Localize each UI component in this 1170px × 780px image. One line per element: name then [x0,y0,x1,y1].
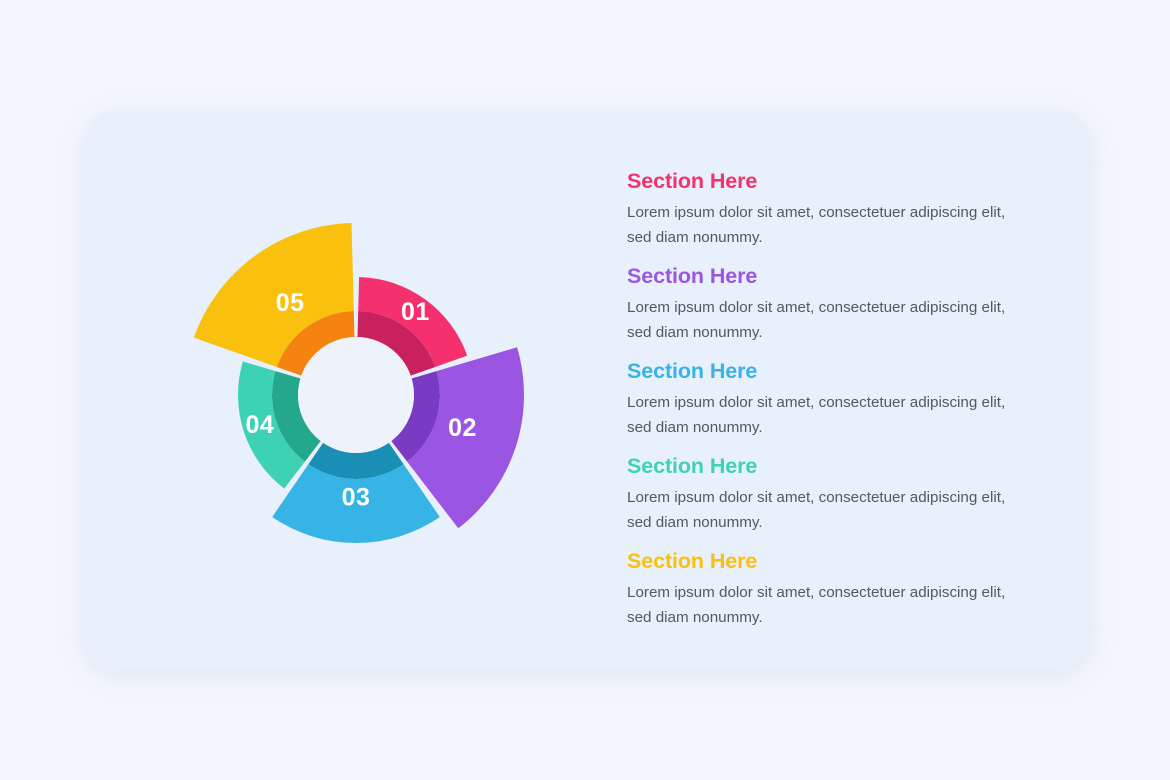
section-body: Lorem ipsum dolor sit amet, consectetuer… [627,390,1017,440]
section-title: Section Here [627,548,1027,575]
infographic-stage: 0102030405 Section HereLorem ipsum dolor… [0,0,1170,780]
section-item: Section HereLorem ipsum dolor sit amet, … [627,548,1027,630]
section-title: Section Here [627,358,1027,385]
donut-slice-label-04: 04 [246,411,275,439]
section-title: Section Here [627,263,1027,290]
section-title: Section Here [627,453,1027,480]
donut-chart: 0102030405 [144,180,604,610]
donut-chart-svg: 0102030405 [144,180,604,610]
donut-slice-label-02: 02 [448,414,477,442]
section-body: Lorem ipsum dolor sit amet, consectetuer… [627,295,1017,345]
donut-slice-label-05: 05 [276,289,305,317]
section-title: Section Here [627,168,1027,195]
section-item: Section HereLorem ipsum dolor sit amet, … [627,263,1027,345]
section-item: Section HereLorem ipsum dolor sit amet, … [627,358,1027,440]
section-body: Lorem ipsum dolor sit amet, consectetuer… [627,200,1017,250]
section-item: Section HereLorem ipsum dolor sit amet, … [627,453,1027,535]
section-item: Section HereLorem ipsum dolor sit amet, … [627,168,1027,250]
donut-slice-label-03: 03 [342,484,371,512]
section-body: Lorem ipsum dolor sit amet, consectetuer… [627,580,1017,630]
donut-center-hole [298,337,414,453]
donut-slice-label-01: 01 [401,298,430,326]
section-list: Section HereLorem ipsum dolor sit amet, … [627,168,1027,630]
infographic-card: 0102030405 Section HereLorem ipsum dolor… [84,110,1090,670]
section-body: Lorem ipsum dolor sit amet, consectetuer… [627,485,1017,535]
